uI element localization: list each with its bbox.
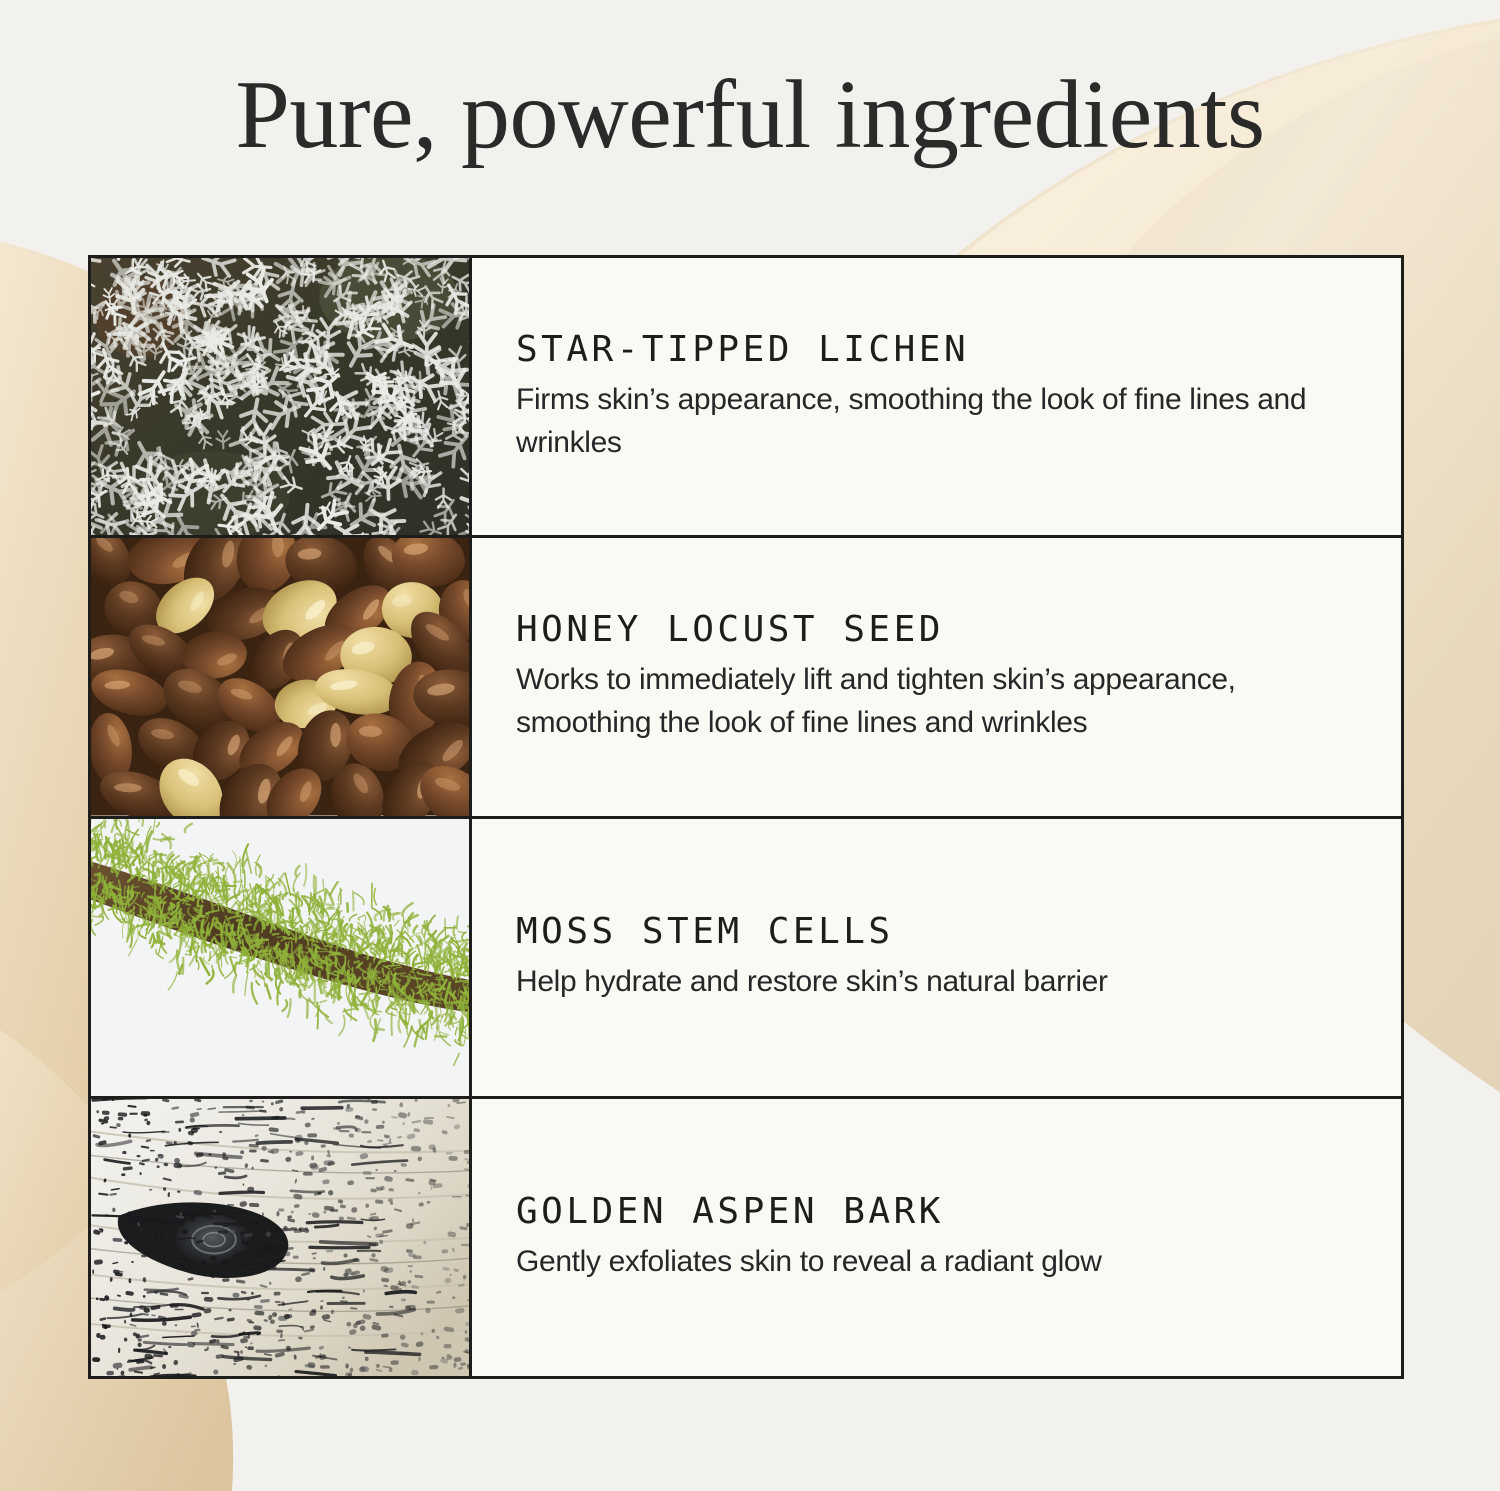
- ingredient-description: Works to immediately lift and tighten sk…: [516, 659, 1346, 744]
- ingredient-name: STAR-TIPPED LICHEN: [516, 329, 1361, 370]
- star-tipped-lichen-image: [91, 258, 472, 535]
- ingredient-row-golden-aspen-bark: GOLDEN ASPEN BARK Gently exfoliates skin…: [91, 1099, 1401, 1376]
- golden-aspen-bark-text: GOLDEN ASPEN BARK Gently exfoliates skin…: [472, 1099, 1401, 1376]
- ingredient-description: Firms skin’s appearance, smoothing the l…: [516, 379, 1346, 464]
- ingredient-description: Help hydrate and restore skin’s natural …: [516, 961, 1346, 1004]
- ingredient-description: Gently exfoliates skin to reveal a radia…: [516, 1241, 1346, 1284]
- honey-locust-seed-image: [91, 538, 472, 815]
- ingredient-row-honey-locust-seed: HONEY LOCUST SEED Works to immediately l…: [91, 538, 1401, 818]
- golden-aspen-bark-image: [91, 1099, 472, 1376]
- moss-stem-cells-image: [91, 819, 472, 1096]
- ingredient-name: HONEY LOCUST SEED: [516, 609, 1361, 650]
- ingredient-name: GOLDEN ASPEN BARK: [516, 1191, 1361, 1232]
- star-tipped-lichen-text: STAR-TIPPED LICHEN Firms skin’s appearan…: [472, 258, 1401, 535]
- ingredient-row-star-tipped-lichen: STAR-TIPPED LICHEN Firms skin’s appearan…: [91, 258, 1401, 538]
- page-title: Pure, powerful ingredients: [0, 58, 1500, 174]
- ingredient-name: MOSS STEM CELLS: [516, 911, 1361, 952]
- honey-locust-seed-text: HONEY LOCUST SEED Works to immediately l…: [472, 538, 1401, 815]
- moss-stem-cells-text: MOSS STEM CELLS Help hydrate and restore…: [472, 819, 1401, 1096]
- ingredient-list-card: STAR-TIPPED LICHEN Firms skin’s appearan…: [88, 255, 1404, 1379]
- ingredient-row-moss-stem-cells: MOSS STEM CELLS Help hydrate and restore…: [91, 819, 1401, 1099]
